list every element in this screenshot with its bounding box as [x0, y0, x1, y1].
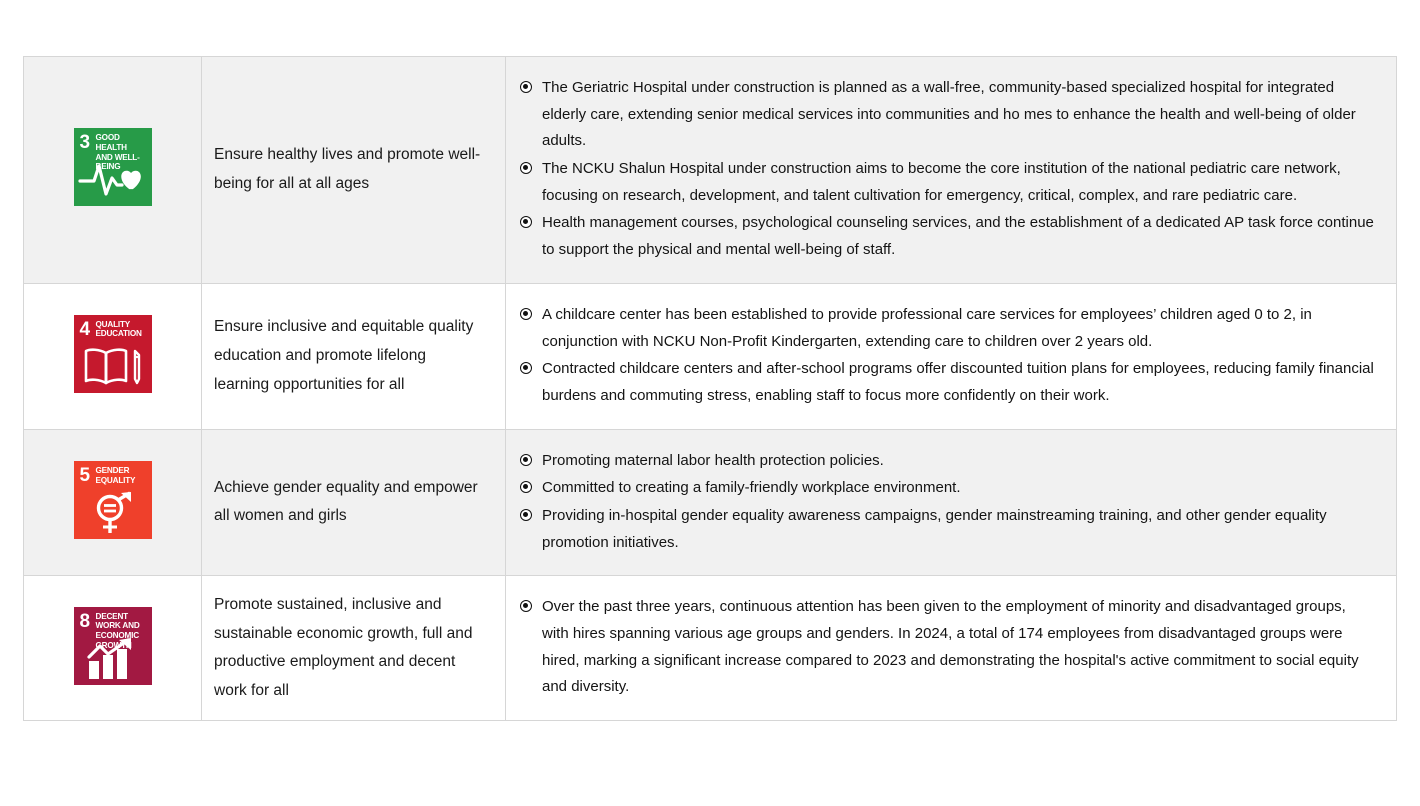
- bullet-marker-icon: [520, 600, 532, 612]
- sdg-artwork: [74, 491, 152, 535]
- action-list-item: Contracted childcare centers and after-s…: [520, 356, 1374, 409]
- action-list-item: A childcare center has been established …: [520, 302, 1374, 355]
- sdg-caption-line-2: EDUCATION: [96, 329, 142, 338]
- table-header-row: SDGs 2024 Implementation Actions: [14, 12, 1406, 54]
- sdg-table: 3GOOD HEALTHAND WELL-BEINGEnsure healthy…: [23, 56, 1397, 721]
- sdg-goal-cell: Ensure inclusive and equitable quality e…: [202, 283, 506, 429]
- sdg-icon-cell: 3GOOD HEALTHAND WELL-BEING: [24, 57, 202, 284]
- sdg-artwork: [74, 637, 152, 681]
- bullet-marker-icon: [520, 481, 532, 493]
- sdg-number: 3: [80, 133, 91, 152]
- sdg-4-quality-education: 4QUALITYEDUCATION: [74, 315, 152, 393]
- sdg-caption: QUALITYEDUCATION: [96, 320, 149, 339]
- bullet-marker-icon: [520, 454, 532, 466]
- action-text: Providing in-hospital gender equality aw…: [542, 507, 1327, 551]
- table-row: 4QUALITYEDUCATIONEnsure inclusive and eq…: [24, 283, 1397, 429]
- sdg-caption-line-1: DECENT WORK AND: [96, 612, 140, 631]
- sdg-goal-cell: Promote sustained, inclusive and sustain…: [202, 576, 506, 721]
- heartbeat-pulse-icon: [78, 158, 148, 198]
- action-text: A childcare center has been established …: [542, 306, 1312, 350]
- action-text: Over the past three years, continuous at…: [542, 598, 1359, 695]
- action-text: Promoting maternal labor health protecti…: [542, 452, 884, 469]
- sdg-caption-line-2: EQUALITY: [96, 476, 136, 485]
- sdg-goal-cell: Achieve gender equality and empower all …: [202, 429, 506, 576]
- implementation-actions-cell: Promoting maternal labor health protecti…: [506, 429, 1397, 576]
- bullet-marker-icon: [520, 162, 532, 174]
- sdg-caption: GENDEREQUALITY: [96, 466, 149, 485]
- column-header-implementation-actions: 2024 Implementation Actions: [507, 12, 1406, 54]
- sdg-icon-cell: 4QUALITYEDUCATION: [24, 283, 202, 429]
- sdg-goal-text: Ensure inclusive and equitable quality e…: [214, 313, 485, 399]
- bullet-marker-icon: [520, 81, 532, 93]
- bullet-marker-icon: [520, 362, 532, 374]
- action-text: The NCKU Shalun Hospital under construct…: [542, 160, 1341, 204]
- growth-bar-chart-arrow-icon: [83, 637, 143, 679]
- action-list: Over the past three years, continuous at…: [520, 594, 1374, 701]
- open-book-and-pencil-icon: [82, 345, 144, 387]
- implementation-actions-cell: The Geriatric Hospital under constructio…: [506, 57, 1397, 284]
- sdg-artwork: [74, 345, 152, 389]
- bullet-marker-icon: [520, 509, 532, 521]
- gender-equality-symbol-icon: [87, 491, 139, 535]
- bullet-marker-icon: [520, 308, 532, 320]
- bullet-marker-icon: [520, 216, 532, 228]
- action-list: The Geriatric Hospital under constructio…: [520, 75, 1374, 264]
- sdg-artwork: [74, 158, 152, 202]
- sdg-number: 8: [80, 612, 91, 631]
- sdg-caption-line-1: GENDER: [96, 466, 130, 475]
- sdg-icon-cell: 5GENDEREQUALITY: [24, 429, 202, 576]
- sdg-number: 4: [80, 320, 91, 339]
- action-list-item: The Geriatric Hospital under constructio…: [520, 75, 1374, 155]
- table-row: 5GENDEREQUALITYAchieve gender equality a…: [24, 429, 1397, 576]
- sdg-table-body: 3GOOD HEALTHAND WELL-BEINGEnsure healthy…: [24, 57, 1397, 721]
- sdg-implementation-table-page: SDGs 2024 Implementation Actions 3GOOD H…: [0, 0, 1420, 806]
- sdg-icon-cell: 8DECENT WORK ANDECONOMIC GROWTH: [24, 576, 202, 721]
- sdg-3-good-health-and-well-being: 3GOOD HEALTHAND WELL-BEING: [74, 128, 152, 206]
- sdg-goal-cell: Ensure healthy lives and promote well-be…: [202, 57, 506, 284]
- sdg-5-gender-equality: 5GENDEREQUALITY: [74, 461, 152, 539]
- table-row: 3GOOD HEALTHAND WELL-BEINGEnsure healthy…: [24, 57, 1397, 284]
- action-list: A childcare center has been established …: [520, 302, 1374, 410]
- action-list-item: Committed to creating a family-friendly …: [520, 475, 1374, 502]
- action-text: Committed to creating a family-friendly …: [542, 479, 961, 496]
- action-text: Contracted childcare centers and after-s…: [542, 360, 1374, 404]
- sdg-goal-text: Promote sustained, inclusive and sustain…: [214, 591, 485, 706]
- action-list-item: The NCKU Shalun Hospital under construct…: [520, 156, 1374, 209]
- sdg-goal-text: Ensure healthy lives and promote well-be…: [214, 141, 485, 198]
- action-list-item: Over the past three years, continuous at…: [520, 594, 1374, 701]
- column-header-actions-label: 2024 Implementation Actions: [837, 23, 1077, 43]
- action-list-item: Health management courses, psychological…: [520, 210, 1374, 263]
- column-header-sdgs-label: SDGs: [234, 23, 281, 43]
- column-header-sdgs: SDGs: [14, 12, 502, 54]
- sdg-goal-text: Achieve gender equality and empower all …: [214, 474, 485, 531]
- action-list: Promoting maternal labor health protecti…: [520, 448, 1374, 557]
- action-list-item: Providing in-hospital gender equality aw…: [520, 503, 1374, 556]
- sdg-caption-line-1: QUALITY: [96, 320, 131, 329]
- implementation-actions-cell: Over the past three years, continuous at…: [506, 576, 1397, 721]
- sdg-caption-line-1: GOOD HEALTH: [96, 133, 127, 152]
- action-list-item: Promoting maternal labor health protecti…: [520, 448, 1374, 475]
- sdg-8-decent-work-and-economic-growth: 8DECENT WORK ANDECONOMIC GROWTH: [74, 607, 152, 685]
- sdg-number: 5: [80, 466, 91, 485]
- table-row: 8DECENT WORK ANDECONOMIC GROWTHPromote s…: [24, 576, 1397, 721]
- implementation-actions-cell: A childcare center has been established …: [506, 283, 1397, 429]
- action-text: The Geriatric Hospital under constructio…: [542, 79, 1356, 149]
- action-text: Health management courses, psychological…: [542, 214, 1374, 258]
